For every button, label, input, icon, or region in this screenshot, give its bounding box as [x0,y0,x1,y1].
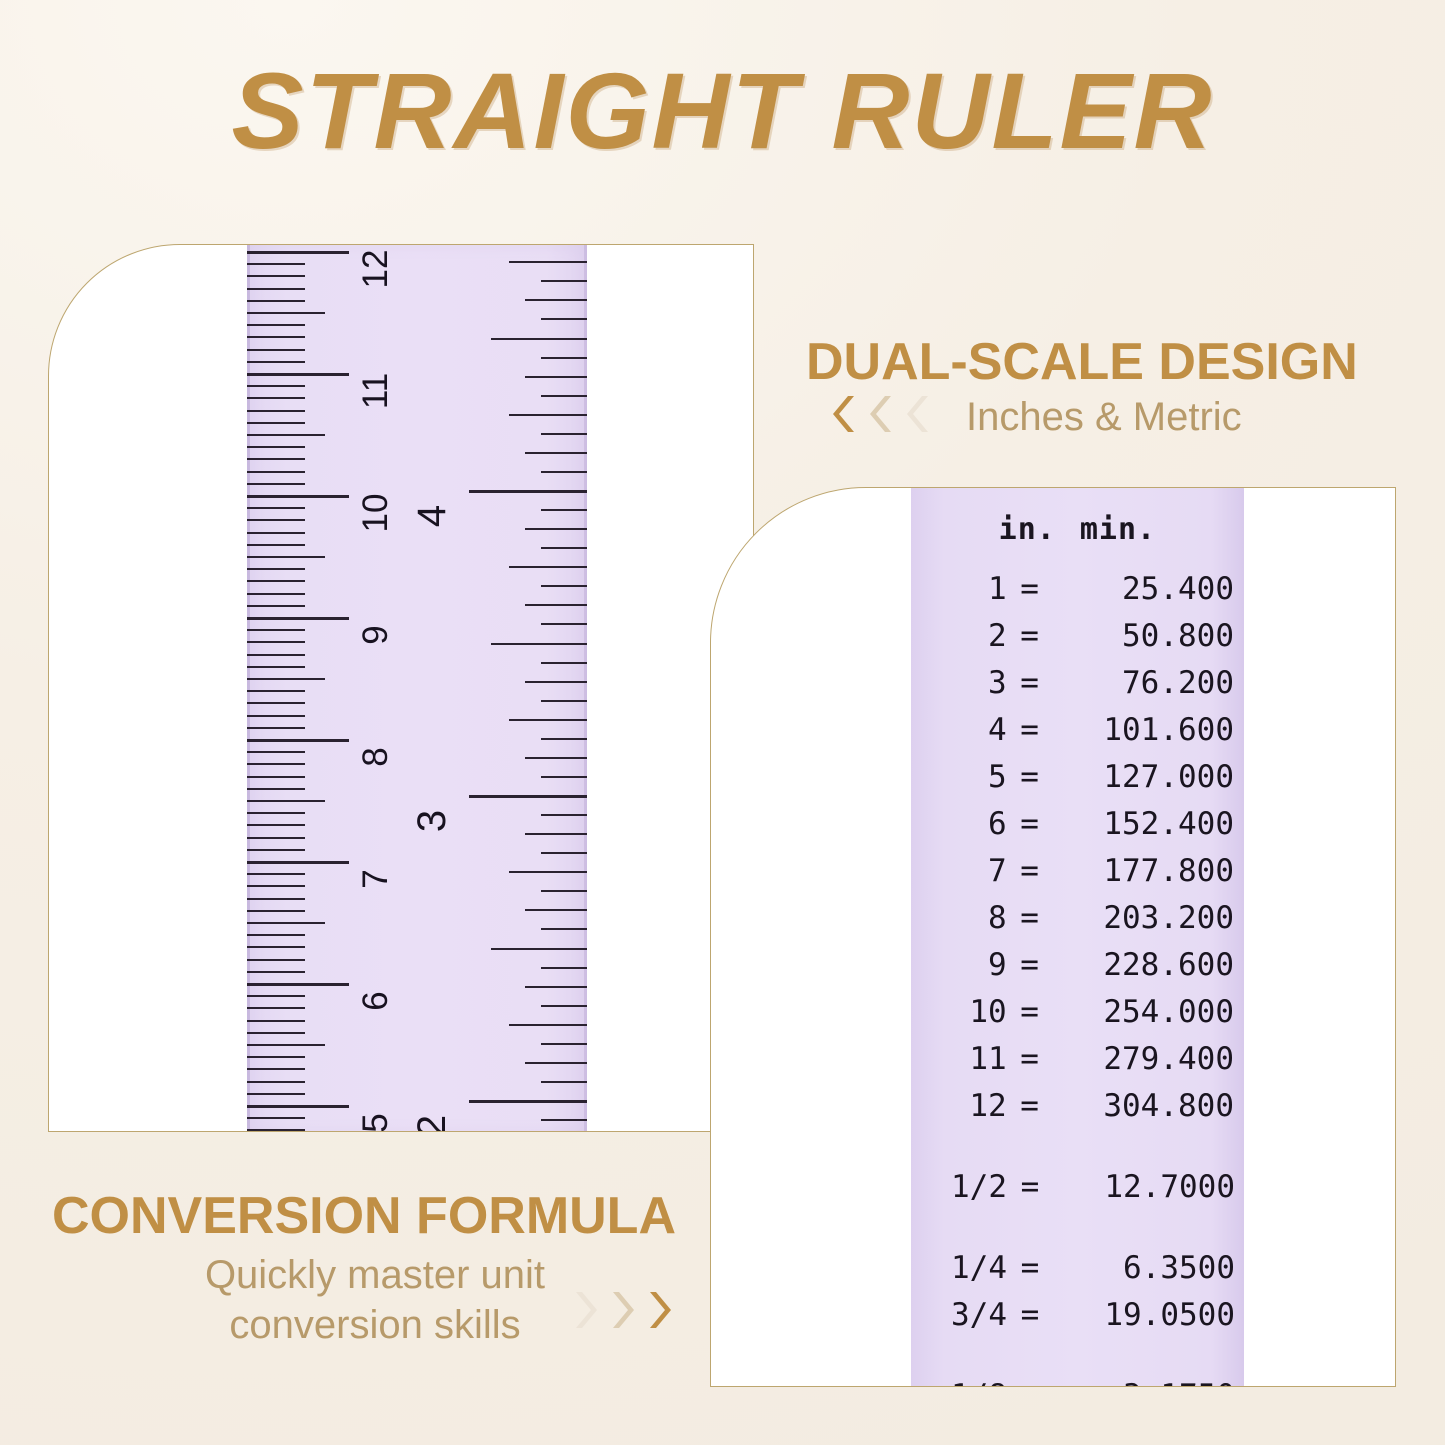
table-cell-inches: 10 [911,997,1007,1028]
ruler-strip: 12111098765 432 [247,244,587,1132]
table-cell-equals: = [1007,950,1053,981]
ruler-tick-minor [247,946,305,948]
ruler-tick-minor [247,849,305,851]
chevron-right-icon [572,1288,602,1332]
ruler-tick-minor [541,662,587,664]
ruler-tick-minor [247,422,305,424]
table-cell-inches: 8 [911,903,1007,934]
ruler-tick-minor [247,458,305,460]
ruler-tick-minor [541,1119,587,1121]
ruler-tick-major [247,983,349,986]
table-cell-mm: 50.800 [1053,621,1244,652]
ruler-tick-minor [247,349,305,351]
table-cell-inches: 5 [911,762,1007,793]
table-cell-equals: = [1007,1300,1053,1331]
table-row: 12=304.800 [911,1091,1244,1122]
ruler-tick-minor [247,763,305,765]
ruler-tick-minor [541,280,587,282]
conversion-table-panel: in. min. 1=25.4002=50.8003=76.2004=101.6… [710,487,1396,1387]
ruler-tick-minor [541,509,587,511]
ruler-tick-minor [541,776,587,778]
table-cell-equals: = [1007,1044,1053,1075]
table-cell-equals: = [1007,715,1053,746]
table-row: 5=127.000 [911,762,1244,793]
ruler-tick-minor [247,532,305,534]
ruler-tick-minor [525,1062,587,1064]
table-row: 11=279.400 [911,1044,1244,1075]
ruler-metric-label: 8 [358,730,398,784]
ruler-tick-minor [247,751,305,753]
ruler-tick-minor [509,261,587,263]
table-cell-mm: 25.400 [1053,574,1244,605]
ruler-tick-minor [247,788,305,790]
ruler-imperial-label: 2 [412,1101,452,1132]
ruler-imperial-label: 3 [412,796,452,846]
ruler-tick-minor [247,702,305,704]
table-cell-inches: 2 [911,621,1007,652]
table-cell-mm: 177.800 [1053,856,1244,887]
table-header-row: in. min. [911,512,1244,547]
ruler-tick-minor [247,1032,305,1034]
ruler-tick-minor [247,434,325,436]
ruler-tick-minor [247,776,305,778]
table-cell-mm: 279.400 [1053,1044,1244,1075]
table-cell-inches: 7 [911,856,1007,887]
feature-subtitle-dual-scale: Inches & Metric [966,392,1242,442]
table-cell-inches: 11 [911,1044,1007,1075]
table-cell-inches: 3/4 [911,1300,1007,1331]
ruler-tick-minor [541,1081,587,1083]
ruler-tick-minor [247,654,305,656]
ruler-tick-minor [525,909,587,911]
table-cell-inches: 6 [911,809,1007,840]
ruler-tick-minor [541,1043,587,1045]
ruler-tick-minor [247,898,305,900]
ruler-tick-minor [247,580,305,582]
ruler-imperial-label: 4 [412,491,452,541]
ruler-tick-minor [247,263,305,265]
ruler-tick-major [469,795,587,798]
ruler-tick-minor [247,300,305,302]
ruler-tick-minor [247,385,305,387]
chevron-left-icon [865,392,895,436]
chevron-left-icon [828,392,858,436]
ruler-tick-minor [541,471,587,473]
ruler-panel: 12111098765 432 [48,244,754,1132]
table-row: 1/2=12.7000 [911,1172,1244,1203]
ruler-tick-minor [247,471,305,473]
table-cell-equals: = [1007,997,1053,1028]
table-cell-inches: 1/2 [911,1172,1007,1203]
ruler-tick-minor [247,959,305,961]
ruler-metric-label: 7 [358,852,398,906]
chevron-left-icon [902,392,932,436]
ruler-tick-minor [247,483,305,485]
table-cell-equals: = [1007,668,1053,699]
ruler-tick-minor [541,318,587,320]
ruler-tick-major [247,373,349,376]
ruler-tick-minor [247,288,305,290]
conversion-table: in. min. 1=25.4002=50.8003=76.2004=101.6… [911,488,1244,1387]
ruler-tick-minor [491,643,587,645]
ruler-tick-minor [247,544,305,546]
ruler-metric-label: 11 [358,364,398,418]
table-cell-inches: 4 [911,715,1007,746]
ruler-tick-minor [247,922,325,924]
ruler-tick-minor [509,719,587,721]
ruler-tick-minor [247,837,305,839]
table-cell-equals: = [1007,1091,1053,1122]
table-cell-mm: 12.7000 [1053,1172,1239,1203]
ruler-tick-minor [247,1068,305,1070]
ruler-tick-minor [247,1129,305,1131]
ruler-tick-minor [247,324,305,326]
ruler-tick-minor [525,757,587,759]
ruler-metric-label: 9 [358,608,398,662]
table-cell-inches: 9 [911,950,1007,981]
ruler-tick-minor [491,948,587,950]
ruler-tick-minor [247,1007,305,1009]
chevron-left-group [828,392,932,436]
ruler-metric-label: 12 [358,244,398,296]
ruler-tick-minor [541,700,587,702]
ruler-tick-minor [247,934,305,936]
table-cell-equals: = [1007,903,1053,934]
feature-title-dual-scale: DUAL-SCALE DESIGN [806,332,1358,392]
table-cell-inches: 1/8 [911,1381,1007,1387]
table-row: 10=254.000 [911,997,1244,1028]
table-header-mm: min. [1062,512,1244,547]
ruler-tick-minor [247,1020,305,1022]
table-cell-mm: 203.200 [1053,903,1244,934]
ruler-tick-minor [247,593,305,595]
ruler-tick-minor [525,452,587,454]
ruler-tick-minor [247,446,305,448]
ruler-tick-major [469,490,587,493]
ruler-tick-minor [247,727,305,729]
ruler-tick-minor [525,528,587,530]
ruler-tick-major [247,861,349,864]
ruler-tick-minor [247,629,305,631]
table-cell-mm: 76.200 [1053,668,1244,699]
ruler-tick-minor [247,275,305,277]
ruler-tick-minor [541,357,587,359]
feature-subtitle-conversion-formula: Quickly master unit conversion skills [200,1250,550,1350]
ruler-tick-minor [247,397,305,399]
table-cell-inches: 1/4 [911,1253,1007,1284]
ruler-tick-minor [247,800,325,802]
ruler-tick-minor [247,995,305,997]
ruler-tick-minor [247,556,325,558]
ruler-tick-minor [509,566,587,568]
table-cell-mm: 228.600 [1053,950,1244,981]
chevron-right-icon [609,1288,639,1332]
table-row: 7=177.800 [911,856,1244,887]
ruler-tick-minor [247,568,305,570]
table-cell-mm: 3.1750 [1053,1381,1243,1387]
ruler-tick-minor [541,1005,587,1007]
ruler-tick-minor [541,547,587,549]
table-cell-mm: 254.000 [1053,997,1244,1028]
table-header-inches: in. [911,512,1062,547]
ruler-tick-minor [247,824,305,826]
ruler-tick-minor [541,738,587,740]
ruler-tick-minor [491,338,587,340]
ruler-tick-minor [525,604,587,606]
ruler-tick-minor [247,410,305,412]
chevron-right-icon [646,1288,676,1332]
infographic-root: STRAIGHT RULER 12111098765 432 in. min. … [0,0,1445,1445]
ruler-tick-minor [247,666,305,668]
table-row: 1=25.400 [911,574,1244,605]
table-row: 3=76.200 [911,668,1244,699]
ruler-tick-minor [525,681,587,683]
page-title: STRAIGHT RULER [0,48,1445,173]
ruler-tick-minor [247,678,325,680]
ruler-metric-label: 5 [358,1096,398,1132]
ruler-tick-minor [247,812,305,814]
table-row: 9=228.600 [911,950,1244,981]
table-cell-inches: 1 [911,574,1007,605]
table-row: 3/4=19.0500 [911,1300,1244,1331]
ruler-tick-minor [541,395,587,397]
ruler-tick-minor [247,1056,305,1058]
ruler-tick-minor [541,585,587,587]
ruler-tick-minor [247,690,305,692]
ruler-tick-major [247,739,349,742]
ruler-tick-minor [247,361,305,363]
ruler-tick-major [469,1100,587,1103]
ruler-tick-minor [541,967,587,969]
ruler-tick-minor [247,873,305,875]
conversion-table-strip: in. min. 1=25.4002=50.8003=76.2004=101.6… [911,488,1244,1387]
ruler-tick-minor [247,1093,305,1095]
ruler-tick-minor [247,312,325,314]
table-cell-mm: 304.800 [1053,1091,1244,1122]
ruler-metric-label: 6 [358,974,398,1028]
ruler-tick-minor [247,1044,325,1046]
table-cell-equals: = [1007,1253,1053,1284]
ruler-left-edge [247,244,250,1132]
ruler-tick-major [247,617,349,620]
ruler-tick-minor [541,814,587,816]
ruler-tick-minor [509,1024,587,1026]
ruler-tick-minor [525,833,587,835]
table-cell-inches: 12 [911,1091,1007,1122]
table-cell-equals: = [1007,621,1053,652]
table-cell-mm: 19.0500 [1053,1300,1239,1331]
chevron-right-group [572,1288,676,1332]
table-cell-equals: = [1007,856,1053,887]
ruler-tick-minor [247,519,305,521]
ruler-tick-minor [247,885,305,887]
table-row: 8=203.200 [911,903,1244,934]
ruler-tick-minor [541,852,587,854]
ruler-tick-minor [247,605,305,607]
ruler-tick-major [247,1105,349,1108]
table-row: 2=50.800 [911,621,1244,652]
ruler-tick-minor [247,1081,305,1083]
feature-subtitle-line-2: conversion skills [200,1300,550,1350]
table-cell-mm: 101.600 [1053,715,1244,746]
ruler-tick-minor [247,715,305,717]
ruler-tick-minor [247,971,305,973]
ruler-tick-minor [541,433,587,435]
ruler-tick-minor [525,986,587,988]
ruler-tick-minor [525,376,587,378]
table-row: 6=152.400 [911,809,1244,840]
ruler-tick-minor [525,299,587,301]
table-cell-mm: 152.400 [1053,809,1244,840]
ruler-tick-minor [247,336,305,338]
ruler-tick-minor [247,1117,305,1119]
table-cell-mm: 6.3500 [1053,1253,1239,1284]
table-cell-equals: = [1007,762,1053,793]
table-cell-equals: = [1007,574,1053,605]
table-cell-equals: = [1007,1172,1053,1203]
table-row: 4=101.600 [911,715,1244,746]
ruler-tick-minor [541,928,587,930]
ruler-tick-minor [247,641,305,643]
table-row: 1/4=6.3500 [911,1253,1244,1284]
feature-subtitle-line-1: Quickly master unit [200,1250,550,1300]
ruler-tick-major [247,495,349,498]
table-cell-mm: 127.000 [1053,762,1244,793]
ruler-tick-minor [247,910,305,912]
feature-title-conversion-formula: CONVERSION FORMULA [52,1186,676,1246]
ruler-tick-minor [541,890,587,892]
table-cell-equals: = [1007,809,1053,840]
ruler-tick-minor [509,871,587,873]
ruler-metric-label: 10 [358,486,398,540]
ruler-tick-minor [541,623,587,625]
ruler-tick-major [247,251,349,254]
ruler-tick-minor [247,507,305,509]
ruler-tick-minor [509,414,587,416]
table-cell-inches: 3 [911,668,1007,699]
table-cell-equals: = [1007,1381,1053,1387]
table-row: 1/8=3.1750 [911,1381,1244,1387]
